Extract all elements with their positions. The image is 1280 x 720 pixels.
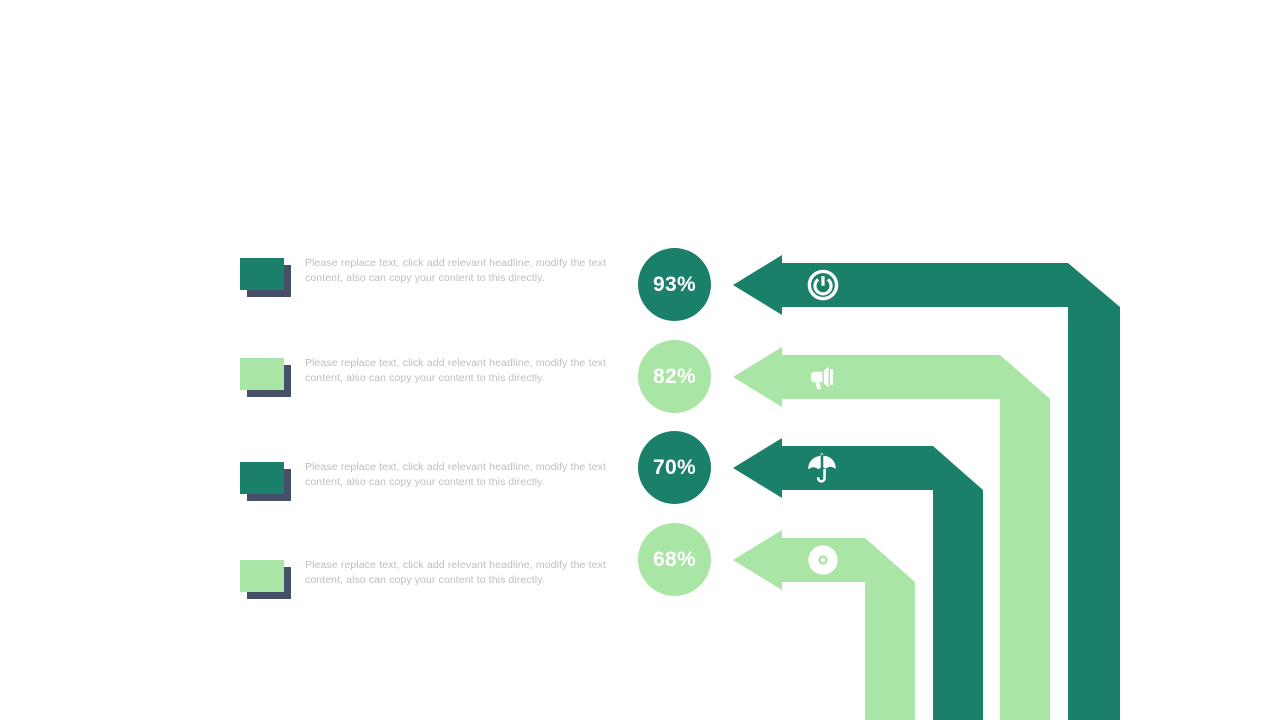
list-item[interactable]: Please replace text, click add relevant … xyxy=(240,258,610,318)
bullet-marker-4 xyxy=(240,560,286,594)
power-icon xyxy=(806,268,840,302)
list-item-text: Please replace text, click add relevant … xyxy=(305,558,606,588)
list-item[interactable]: Please replace text, click add relevant … xyxy=(240,358,610,418)
list-item-text: Please replace text, click add relevant … xyxy=(305,256,606,286)
percent-badge-68[interactable]: 68% xyxy=(638,523,711,596)
list-item[interactable]: Please replace text, click add relevant … xyxy=(240,560,610,620)
slide-canvas: Please replace text, click add relevant … xyxy=(0,0,1280,720)
bullet-marker-2 xyxy=(240,358,286,392)
percent-badge-70[interactable]: 70% xyxy=(638,431,711,504)
bullet-marker-face xyxy=(240,462,284,494)
bullet-marker-3 xyxy=(240,462,286,496)
list-item-text: Please replace text, click add relevant … xyxy=(305,356,606,386)
bullet-marker-face xyxy=(240,560,284,592)
bullet-marker-1 xyxy=(240,258,286,292)
percent-badge-82[interactable]: 82% xyxy=(638,340,711,413)
compact-disc-icon xyxy=(806,543,840,577)
list-item[interactable]: Please replace text, click add relevant … xyxy=(240,462,610,522)
list-item-text: Please replace text, click add relevant … xyxy=(305,460,606,490)
megaphone-icon xyxy=(805,360,839,394)
bullet-marker-face xyxy=(240,258,284,290)
umbrella-icon xyxy=(805,451,839,485)
bullet-marker-face xyxy=(240,358,284,390)
percent-badge-93[interactable]: 93% xyxy=(638,248,711,321)
ribbon-arrow-diagram xyxy=(0,0,1280,720)
